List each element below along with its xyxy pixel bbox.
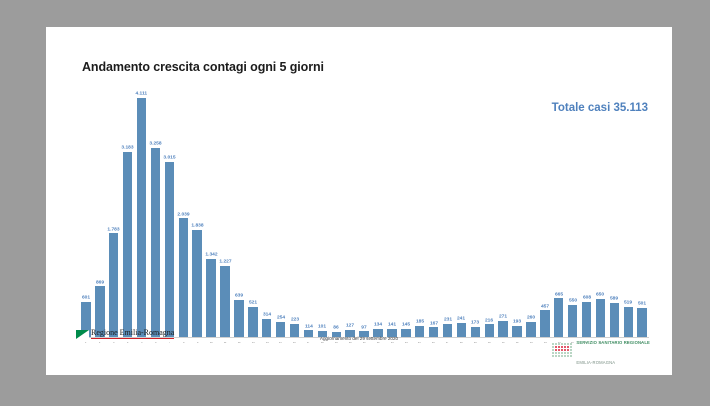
bar-value-label: 3.183	[122, 146, 134, 151]
bar-value-label: 550	[569, 299, 577, 304]
bar-item[interactable]: 66535	[552, 87, 566, 337]
bar-value-label: 127	[346, 324, 354, 329]
bar-item[interactable]: 24128	[454, 87, 468, 337]
health-grid-cell	[552, 343, 554, 345]
bar-rect[interactable]	[137, 98, 146, 337]
health-grid-cell	[555, 349, 557, 351]
bar-value-label: 869	[96, 280, 104, 285]
bar-value-label: 231	[443, 318, 451, 323]
bar-value-label: 589	[610, 297, 618, 302]
bar-item[interactable]: 55036	[566, 87, 580, 337]
health-grid-cell	[558, 352, 560, 354]
bar-rect[interactable]	[151, 148, 160, 337]
health-grid-cell	[570, 352, 572, 354]
bar-item[interactable]: 45734	[538, 87, 552, 337]
bar-rect[interactable]	[123, 152, 132, 337]
health-grid-cell	[561, 349, 563, 351]
bar-value-label: 4.111	[136, 92, 148, 97]
health-grid-cell	[558, 349, 560, 351]
bar-chart-plot: 601186921.78333.18344.11153.25863.01572.…	[79, 87, 649, 337]
bar-item[interactable]: 11417	[302, 87, 316, 337]
screenshot-stage: Andamento crescita contagi ogni 5 giorni…	[0, 0, 710, 406]
bar-item[interactable]: 1.8389	[190, 87, 204, 337]
health-grid-cell	[564, 352, 566, 354]
health-grid-cell	[570, 355, 572, 357]
bar-item[interactable]: 21630	[482, 87, 496, 337]
health-grid-cell	[558, 355, 560, 357]
bar-item[interactable]: 25415	[274, 87, 288, 337]
bar-item[interactable]: 19332	[510, 87, 524, 337]
bar-value-label: 1.342	[205, 253, 217, 258]
bar-item[interactable]: 60837	[580, 87, 594, 337]
bar-value-label: 254	[277, 316, 285, 321]
health-grid-cell	[561, 355, 563, 357]
bar-rect[interactable]	[206, 259, 215, 337]
health-grid-cell	[570, 346, 572, 348]
bar-item[interactable]: 3.2586	[149, 87, 163, 337]
bar-value-label: 501	[638, 302, 646, 307]
bar-value-label: 216	[485, 318, 493, 323]
bar-item[interactable]: 22316	[288, 87, 302, 337]
bar-item[interactable]: 27131	[496, 87, 510, 337]
bar-item[interactable]: 58939	[607, 87, 621, 337]
bar-value-label: 601	[82, 296, 90, 301]
health-grid-cell	[552, 352, 554, 354]
bar-item[interactable]: 14524	[399, 87, 413, 337]
bar-value-label: 223	[290, 318, 298, 323]
health-logo-text: SERVIZIO SANITARIO REGIONALE EMILIA-ROMA…	[576, 330, 650, 370]
bar-value-label: 3.258	[149, 142, 161, 147]
health-grid-cell	[567, 349, 569, 351]
bar-rect[interactable]	[220, 266, 229, 337]
bar-item[interactable]: 12720	[343, 87, 357, 337]
bar-value-label: 639	[235, 294, 243, 299]
bar-item[interactable]: 16726	[427, 87, 441, 337]
bar-value-label: 608	[583, 296, 591, 301]
bar-item[interactable]: 51940	[621, 87, 635, 337]
bar-value-label: 193	[513, 320, 521, 325]
bar-value-label: 167	[430, 321, 438, 326]
health-grid-cell	[564, 343, 566, 345]
bar-value-label: 457	[541, 304, 549, 309]
health-grid-cell	[555, 346, 557, 348]
bar-value-label: 3.015	[163, 156, 175, 161]
health-grid-cell	[555, 355, 557, 357]
bar-value-label: 134	[374, 323, 382, 328]
health-grid-cell	[564, 349, 566, 351]
health-grid-cell	[570, 343, 572, 345]
bar-value-label: 173	[471, 321, 479, 326]
bar-item[interactable]: 8692	[93, 87, 107, 337]
health-logo-line2: EMILIA-ROMAGNA	[576, 360, 615, 365]
health-grid-cell	[567, 355, 569, 357]
bar-value-label: 1.783	[108, 227, 120, 232]
bar-value-label: 314	[263, 313, 271, 318]
health-grid-cell	[567, 343, 569, 345]
bar-item[interactable]: 14123	[385, 87, 399, 337]
health-grid-cell	[558, 346, 560, 348]
bar-rect[interactable]	[179, 218, 188, 337]
health-logo-line1: SERVIZIO SANITARIO REGIONALE	[576, 340, 650, 345]
bar-value-label: 1.227	[219, 260, 231, 265]
health-grid-cell	[552, 346, 554, 348]
bar-item[interactable]: 8619	[329, 87, 343, 337]
bar-item[interactable]: 13422	[371, 87, 385, 337]
bar-value-label: 2.039	[177, 212, 189, 217]
health-grid-cell	[564, 346, 566, 348]
health-grid-cell	[567, 352, 569, 354]
bar-item[interactable]: 1.22711	[218, 87, 232, 337]
bar-value-label: 271	[499, 315, 507, 320]
health-grid-cell	[555, 343, 557, 345]
card-footer: Regione Emilia-Romagna Aggiornamento del…	[46, 329, 672, 361]
bar-item[interactable]: 52113	[246, 87, 260, 337]
bar-value-label: 145	[402, 323, 410, 328]
health-grid-cell	[555, 352, 557, 354]
page-title: Andamento crescita contagi ogni 5 giorni	[82, 60, 324, 74]
health-grid-cell	[561, 346, 563, 348]
bar-item[interactable]: 63912	[232, 87, 246, 337]
bar-item[interactable]: 1.34210	[204, 87, 218, 337]
bar-rect[interactable]	[165, 162, 174, 337]
bar-value-label: 521	[249, 301, 257, 306]
bar-value-label: 260	[527, 316, 535, 321]
bar-item[interactable]: 6011	[79, 87, 93, 337]
bar-item[interactable]: 17329	[468, 87, 482, 337]
health-grid-cell	[552, 355, 554, 357]
bar-item[interactable]: 3.0157	[162, 87, 176, 337]
health-grid-cell	[567, 346, 569, 348]
bar-item[interactable]: 18525	[413, 87, 427, 337]
bar-item[interactable]: 1.7833	[107, 87, 121, 337]
health-grid-cell	[570, 349, 572, 351]
health-grid-cell	[564, 355, 566, 357]
bar-item[interactable]: 2.0398	[176, 87, 190, 337]
bar-item[interactable]: 23127	[441, 87, 455, 337]
bar-rect[interactable]	[192, 230, 201, 337]
bar-item[interactable]: 65038	[594, 87, 608, 337]
bar-value-label: 185	[416, 320, 424, 325]
health-grid-cell	[561, 343, 563, 345]
health-grid-cell	[552, 349, 554, 351]
bar-value-label: 141	[388, 323, 396, 328]
bar-value-label: 665	[555, 292, 563, 297]
bar-rect[interactable]	[109, 233, 118, 337]
health-grid-cell	[558, 343, 560, 345]
health-grid-icon	[552, 343, 572, 357]
bar-value-label: 241	[457, 317, 465, 322]
bar-value-label: 650	[596, 293, 604, 298]
servizio-sanitario-logo: SERVIZIO SANITARIO REGIONALE EMILIA-ROMA…	[552, 330, 650, 370]
health-grid-cell	[561, 352, 563, 354]
bar-item[interactable]: 4.1115	[135, 87, 149, 337]
bar-item[interactable]: 9721	[357, 87, 371, 337]
bar-value-label: 519	[624, 301, 632, 306]
bar-item[interactable]: 31414	[260, 87, 274, 337]
bar-item[interactable]: 3.1834	[121, 87, 135, 337]
bar-item[interactable]: 10118	[315, 87, 329, 337]
bar-item[interactable]: 50141	[635, 87, 649, 337]
chart-card: Andamento crescita contagi ogni 5 giorni…	[46, 27, 672, 375]
bar-value-label: 1.838	[191, 224, 203, 229]
bar-series: 601186921.78333.18344.11153.25863.01572.…	[79, 87, 649, 337]
bar-item[interactable]: 26033	[524, 87, 538, 337]
